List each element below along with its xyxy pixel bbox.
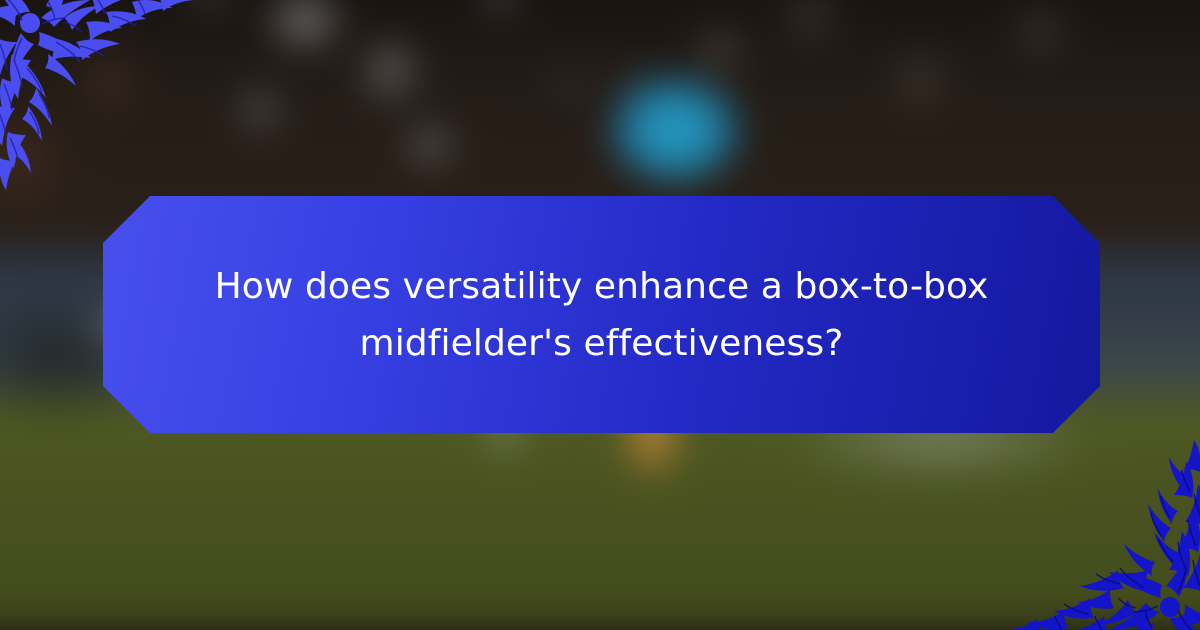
- question-text: How does versatility enhance a box-to-bo…: [212, 258, 992, 372]
- damask-corner-top-left-icon: [0, 0, 204, 202]
- question-card: How does versatility enhance a box-to-bo…: [0, 0, 1200, 630]
- teal-player-figure: [580, 55, 770, 205]
- damask-corner-bottom-right-icon: [996, 428, 1200, 630]
- question-banner: How does versatility enhance a box-to-bo…: [103, 196, 1100, 433]
